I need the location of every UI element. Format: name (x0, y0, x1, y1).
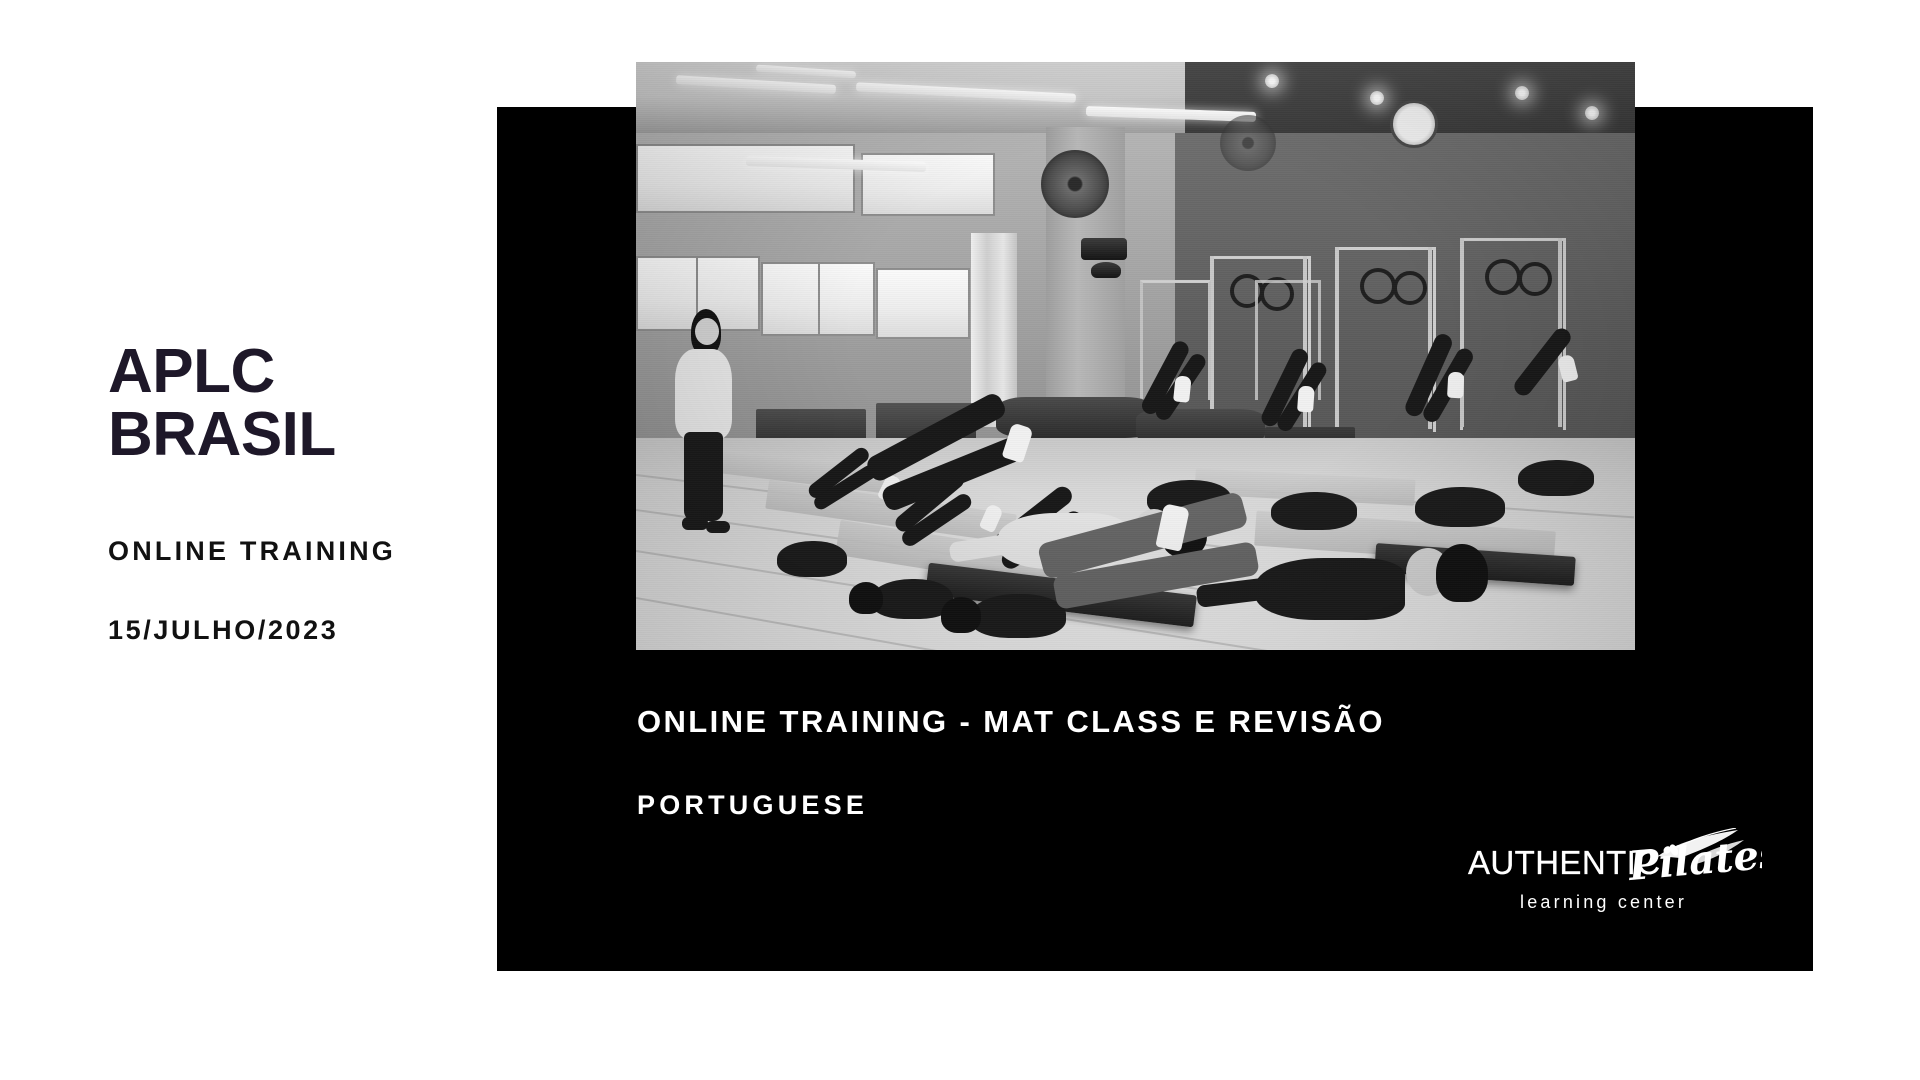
photo-tower-strap-ring (1393, 271, 1427, 305)
photo-bulb (1515, 86, 1529, 100)
photo-participant-foot (1447, 371, 1464, 398)
left-text-column: APLC BRASIL ONLINE TRAINING 15/JULHO/202… (108, 340, 488, 646)
photo-window (761, 262, 875, 337)
photo-window-mullion (818, 264, 820, 335)
photo-participant-hair (1436, 544, 1488, 602)
logo-word-pilates: Pilates (1626, 830, 1762, 890)
photo-participant-foot (1155, 504, 1190, 552)
photo-window (636, 144, 855, 213)
brand-title: APLC BRASIL (108, 340, 488, 466)
photo-tower-strap-ring (1360, 268, 1396, 304)
photo-instructor-shirt (675, 349, 733, 438)
photo-instructor (666, 309, 756, 532)
photo-participant (1515, 368, 1635, 533)
photo-wall-fan (1220, 115, 1276, 171)
photo-participant-foot (1173, 375, 1192, 403)
logo-tagline: learning center (1520, 892, 1687, 912)
photo-participant-torso (777, 541, 847, 577)
brand-title-line-2: BRASIL (108, 403, 488, 466)
panel-title: ONLINE TRAINING - MAT CLASS E REVISÃO (637, 704, 1385, 740)
photo-participant-torso (1518, 460, 1594, 496)
event-subtitle: ONLINE TRAINING (108, 536, 488, 567)
photo-wall-fan (1041, 150, 1109, 218)
photo-participant-foreground (1046, 491, 1466, 650)
photo-instructor-pants (684, 432, 724, 521)
photo-participant-foot (1002, 423, 1034, 464)
event-date: 15/JULHO/2023 (108, 615, 488, 646)
photo-instructor-shoe (682, 517, 708, 530)
studio-photo (636, 62, 1635, 650)
photo-instructor-head (695, 318, 719, 345)
studio-photo-image (636, 62, 1635, 650)
photo-tower-strap-ring (1485, 259, 1521, 295)
poster-canvas: APLC BRASIL ONLINE TRAINING 15/JULHO/202… (0, 0, 1920, 1080)
photo-window (876, 268, 970, 340)
photo-instructor-shoe (706, 521, 730, 533)
brand-title-line-1: APLC (108, 340, 488, 403)
photo-tower-strap-ring (1518, 262, 1552, 296)
panel-language: PORTUGUESE (637, 790, 868, 821)
photo-wall-bracket (1091, 262, 1121, 278)
photo-participant-foot (1297, 386, 1315, 413)
authentic-pilates-logo: AUTHENTIC Pilates learning center (1462, 828, 1762, 924)
photo-wall-bracket (1081, 238, 1127, 260)
